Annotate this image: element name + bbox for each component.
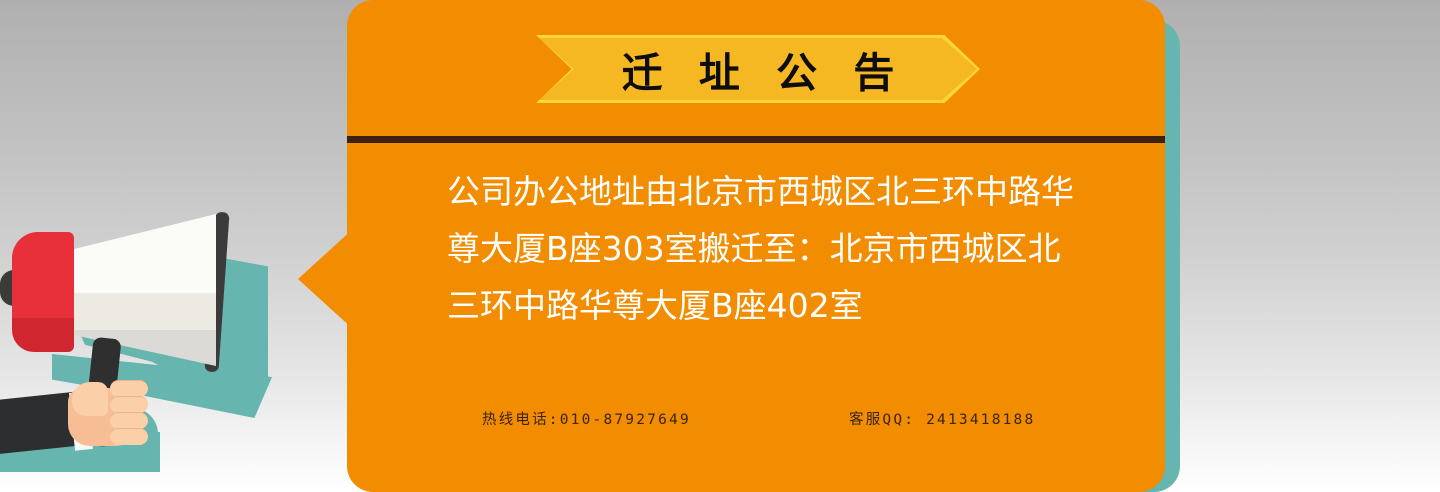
cone-band-middle [56, 293, 216, 329]
cone-band-top [56, 214, 216, 293]
hand-finger [110, 380, 148, 397]
hand-finger [110, 428, 148, 445]
hotline-phone: 热线电话:010-87927649 [482, 408, 691, 429]
announcement-banner: 迁 址 公 告 公司办公地址由北京市西城区北三环中路华尊大厦B座303室搬迁至：… [0, 0, 1440, 492]
notice-body: 公司办公地址由北京市西城区北三环中路华尊大厦B座303室搬迁至：北京市西城区北三… [447, 163, 1092, 334]
megaphone-neck-shade [12, 318, 74, 352]
page-title: 迁 址 公 告 [536, 35, 980, 103]
megaphone-cone [56, 214, 216, 366]
title-ribbon: 迁 址 公 告 [536, 35, 980, 103]
megaphone-illustration [0, 196, 300, 492]
notice-card: 迁 址 公 告 公司办公地址由北京市西城区北三环中路华尊大厦B座303室搬迁至：… [347, 0, 1165, 492]
header-divider [347, 136, 1165, 143]
hand-finger [110, 412, 148, 429]
hand-thumb [72, 382, 108, 416]
contact-footer: 热线电话:010-87927649 客服QQ: 2413418188 [347, 408, 1165, 438]
speech-tail [298, 228, 354, 330]
service-qq: 客服QQ: 2413418188 [849, 408, 1035, 429]
hand-finger [110, 396, 148, 413]
